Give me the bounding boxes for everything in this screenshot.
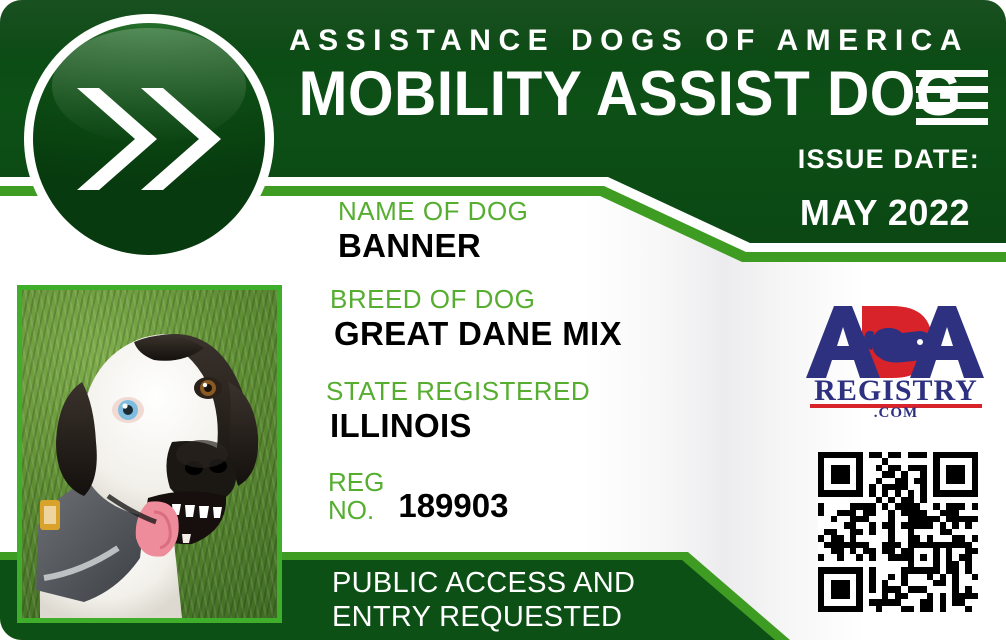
reg-label-line1: REG xyxy=(328,468,384,496)
card-type-title: MOBILITY ASSIST DOG xyxy=(299,62,902,126)
dog-photo-frame xyxy=(17,285,282,623)
field-value: GREAT DANE MIX xyxy=(334,314,622,354)
ada-registry-logo: REGISTRY .COM xyxy=(800,300,992,418)
field-state-registered: STATE REGISTERED ILLINOIS xyxy=(326,376,590,446)
field-registration-number: REG NO. 189903 xyxy=(328,468,508,524)
organization-name: ASSISTANCE DOGS OF AMERICA xyxy=(276,24,982,58)
issue-date-label: ISSUE DATE: xyxy=(798,144,980,175)
qr-code-grid[interactable] xyxy=(818,452,978,612)
field-value: 189903 xyxy=(398,489,508,524)
field-breed-of-dog: BREED OF DOG GREAT DANE MIX xyxy=(330,284,622,354)
stripe-lines-icon xyxy=(916,70,988,125)
footer-notice: PUBLIC ACCESS AND ENTRY REQUESTED xyxy=(332,566,635,634)
issue-date-value: MAY 2022 xyxy=(800,192,970,234)
badge-circle xyxy=(33,23,265,255)
field-label: REG NO. xyxy=(328,468,384,524)
dog-illustration xyxy=(22,290,277,618)
reg-label-line2: NO. xyxy=(328,496,384,524)
service-dog-id-card: ASSISTANCE DOGS OF AMERICA MOBILITY ASSI… xyxy=(0,0,1006,640)
double-chevron-icon xyxy=(69,74,229,204)
qr-code-icon[interactable] xyxy=(818,452,978,612)
ada-wordmark: REGISTRY xyxy=(814,374,978,407)
field-value: ILLINOIS xyxy=(330,406,590,446)
footer-line-2: ENTRY REQUESTED xyxy=(332,600,635,634)
field-value: BANNER xyxy=(338,226,528,266)
field-label: BREED OF DOG xyxy=(330,284,622,314)
field-label: STATE REGISTERED xyxy=(326,376,590,406)
field-name-of-dog: NAME OF DOG BANNER xyxy=(338,196,528,266)
ada-tld: .COM xyxy=(874,405,918,418)
ada-logo-svg: REGISTRY .COM xyxy=(800,300,992,418)
footer-line-1: PUBLIC ACCESS AND xyxy=(332,566,635,600)
dog-photo xyxy=(22,290,277,618)
organization-badge xyxy=(24,14,274,264)
field-label: NAME OF DOG xyxy=(338,196,528,226)
